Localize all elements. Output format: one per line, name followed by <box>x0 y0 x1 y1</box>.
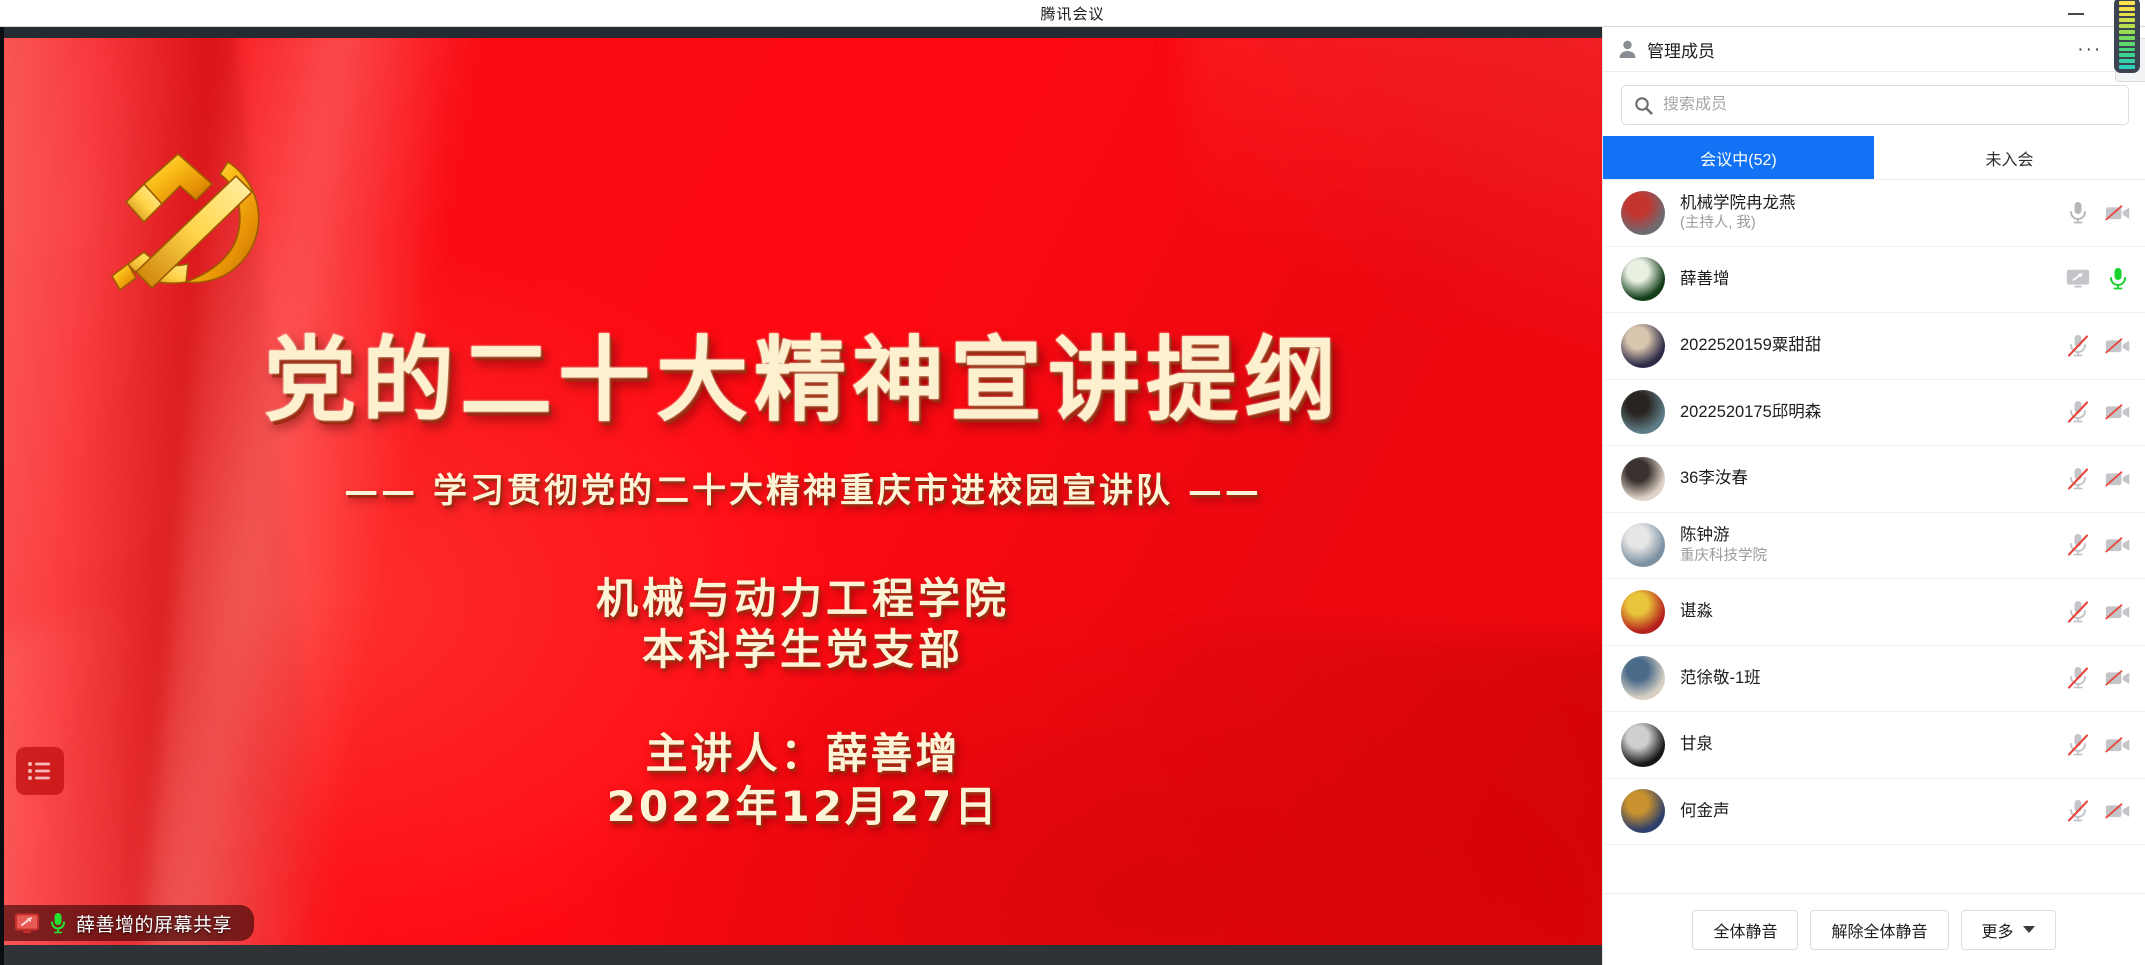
avatar <box>1621 789 1665 833</box>
participant-name: 范徐敬-1班 <box>1680 668 2065 689</box>
cpc-emblem-icon <box>92 138 292 308</box>
avatar <box>1621 723 1665 767</box>
slide-date: 2022年12月27日 <box>4 781 1602 834</box>
participant-status-icons <box>2065 200 2131 226</box>
participant-name: 谌淼 <box>1680 601 2065 622</box>
search-box[interactable] <box>1621 85 2129 125</box>
slide-org-line1: 机械与动力工程学院 <box>4 573 1602 624</box>
participant-status-icons <box>2065 399 2131 425</box>
slide-subtitle: —— 学习贯彻党的二十大精神重庆市进校园宣讲队 —— <box>4 463 1602 512</box>
participant-info: 36李汝春 <box>1680 468 2065 489</box>
audio-level-bar <box>2119 18 2135 22</box>
slide-title: 党的二十大精神宣讲提纲 <box>4 306 1602 439</box>
camera-status-button[interactable] <box>2105 466 2131 492</box>
screen-share-icon <box>14 912 40 934</box>
avatar <box>1621 390 1665 434</box>
participant-row[interactable]: 范徐敬-1班 <box>1603 646 2145 713</box>
avatar <box>1621 191 1665 235</box>
participant-info: 机械学院冉龙燕(主持人, 我) <box>1680 193 2065 233</box>
mute-all-button[interactable]: 全体静音 <box>1692 910 1798 950</box>
minimize-icon <box>2068 13 2084 15</box>
mic-off-icon <box>2066 532 2090 558</box>
mic-off-icon <box>2066 399 2090 425</box>
tab-not-joined[interactable]: 未入会 <box>1874 136 2145 179</box>
audio-level-bar <box>2119 42 2135 46</box>
stage-left-border <box>0 27 4 965</box>
participant-info: 2022520159粟甜甜 <box>1680 335 2065 356</box>
window-title: 腾讯会议 <box>1040 3 1104 24</box>
avatar <box>1621 257 1665 301</box>
participant-status-icons <box>2065 665 2131 691</box>
camera-off-icon <box>2105 800 2131 822</box>
camera-off-icon <box>2105 202 2131 224</box>
panel-title: 管理成员 <box>1647 37 2077 62</box>
participant-row[interactable]: 甘泉 <box>1603 712 2145 779</box>
silk-fold <box>4 456 826 945</box>
participant-info: 2022520175邱明森 <box>1680 402 2065 423</box>
audio-level-bar <box>2119 30 2135 34</box>
mic-off-icon <box>2066 665 2090 691</box>
slide-org-line2: 本科学生党支部 <box>4 624 1602 675</box>
mic-status-button[interactable] <box>2065 532 2091 558</box>
avatar <box>1621 457 1665 501</box>
participant-row[interactable]: 何金声 <box>1603 779 2145 846</box>
participant-name: 机械学院冉龙燕 <box>1680 193 2065 214</box>
participant-row[interactable]: 36李汝春 <box>1603 446 2145 513</box>
participant-row[interactable]: 陈钟游重庆科技学院 <box>1603 513 2145 580</box>
mic-off-icon <box>2066 798 2090 824</box>
participant-info: 范徐敬-1班 <box>1680 668 2065 689</box>
unmute-all-label: 解除全体静音 <box>1831 918 1927 942</box>
participant-info: 何金声 <box>1680 801 2065 822</box>
camera-off-icon <box>2105 534 2131 556</box>
audio-level-meter <box>2114 0 2140 73</box>
more-label: 更多 <box>1982 918 2014 942</box>
participant-subtitle: 重庆科技学院 <box>1680 547 2065 566</box>
avatar <box>1621 656 1665 700</box>
mic-status-button[interactable] <box>2065 665 2091 691</box>
participant-row[interactable]: 薛善增 <box>1603 247 2145 314</box>
participant-name: 陈钟游 <box>1680 525 2065 546</box>
presentation-slide: 党的二十大精神宣讲提纲 —— 学习贯彻党的二十大精神重庆市进校园宣讲队 —— 机… <box>4 38 1602 945</box>
mic-off-icon <box>2066 599 2090 625</box>
audio-level-bar <box>2119 65 2135 69</box>
mic-status-button[interactable] <box>2065 200 2091 226</box>
camera-status-button[interactable] <box>2105 532 2131 558</box>
participant-name: 何金声 <box>1680 801 2065 822</box>
participants-panel: 管理成员 ··· ✕ 会议中(52) 未入会 机械学院冉龙燕(主持人, 我) 薛… <box>1602 27 2145 965</box>
participant-info: 甘泉 <box>1680 734 2065 755</box>
participant-subtitle: (主持人, 我) <box>1680 214 2065 233</box>
person-icon <box>1617 39 1638 60</box>
audio-level-bar <box>2119 36 2135 40</box>
stage-bottom-border <box>0 945 1602 965</box>
camera-status-button[interactable] <box>2105 399 2131 425</box>
mute-all-label: 全体静音 <box>1713 918 1777 942</box>
camera-off-icon <box>2105 401 2131 423</box>
participant-row[interactable]: 机械学院冉龙燕(主持人, 我) <box>1603 180 2145 247</box>
audio-level-bar <box>2119 48 2135 52</box>
camera-status-button[interactable] <box>2105 665 2131 691</box>
more-options-icon[interactable]: ··· <box>2077 40 2102 59</box>
participant-status-icons <box>2065 333 2131 359</box>
screen-share-banner: 薛善增的屏幕共享 <box>4 905 254 941</box>
list-icon <box>27 760 53 782</box>
slide-organization: 机械与动力工程学院 本科学生党支部 <box>4 573 1602 675</box>
participant-name: 甘泉 <box>1680 734 2065 755</box>
panel-search-wrapper <box>1603 72 2145 136</box>
mic-status-button[interactable] <box>2065 599 2091 625</box>
mic-status-button[interactable] <box>2065 732 2091 758</box>
panel-footer: 全体静音 解除全体静音 更多 <box>1603 893 2145 965</box>
participant-name: 薛善增 <box>1680 269 2065 290</box>
shared-screen-stage: 党的二十大精神宣讲提纲 —— 学习贯彻党的二十大精神重庆市进校园宣讲队 —— 机… <box>0 27 1602 965</box>
audio-level-bar <box>2119 7 2135 11</box>
avatar <box>1621 324 1665 368</box>
audio-level-bar <box>2119 1 2135 5</box>
participant-status-icons <box>2065 732 2131 758</box>
minimize-button[interactable] <box>2053 0 2099 27</box>
participant-info: 薛善增 <box>1680 269 2065 290</box>
window-titlebar: 腾讯会议 <box>0 0 2145 27</box>
avatar <box>1621 523 1665 567</box>
camera-status-button[interactable] <box>2105 333 2131 359</box>
participant-status-icons <box>2065 599 2131 625</box>
search-input[interactable] <box>1663 96 2116 114</box>
search-icon <box>1634 96 1653 115</box>
participant-info: 陈钟游重庆科技学院 <box>1680 525 2065 565</box>
mic-status-button[interactable] <box>2065 333 2091 359</box>
participant-row[interactable]: 2022520159粟甜甜 <box>1603 313 2145 380</box>
unmute-all-button[interactable]: 解除全体静音 <box>1810 910 1948 950</box>
camera-off-icon <box>2105 734 2131 756</box>
mic-status-button[interactable] <box>2065 399 2091 425</box>
mic-off-icon <box>2066 466 2090 492</box>
mic-on-icon <box>2066 200 2090 226</box>
participant-name: 36李汝春 <box>1680 468 2065 489</box>
participant-status-icons <box>2065 266 2131 292</box>
audio-level-bar <box>2119 59 2135 63</box>
audio-level-bar <box>2119 24 2135 28</box>
screen-share-banner-text: 薛善增的屏幕共享 <box>76 910 232 937</box>
slide-speaker-block: 主讲人：薛善增 2022年12月27日 <box>4 728 1602 833</box>
meeting-window: 腾讯会议 <box>0 0 2145 965</box>
mic-status-button[interactable] <box>2065 798 2091 824</box>
microphone-icon <box>49 911 67 935</box>
camera-status-button[interactable] <box>2105 732 2131 758</box>
mic-status-button[interactable] <box>2065 466 2091 492</box>
participant-row[interactable]: 2022520175邱明森 <box>1603 380 2145 447</box>
audio-level-bar <box>2119 53 2135 57</box>
camera-status-button[interactable] <box>2105 200 2131 226</box>
camera-status-button[interactable] <box>2105 599 2131 625</box>
participant-name: 2022520175邱明森 <box>1680 402 2065 423</box>
participant-status-icons <box>2065 798 2131 824</box>
camera-status-button[interactable] <box>2105 798 2131 824</box>
panel-header: 管理成员 ··· ✕ <box>1603 27 2145 72</box>
camera-off-icon <box>2105 468 2131 490</box>
stage-top-border <box>0 27 1602 38</box>
mic-off-icon <box>2066 333 2090 359</box>
participant-info: 谌淼 <box>1680 601 2065 622</box>
panel-tabs: 会议中(52) 未入会 <box>1603 136 2145 180</box>
stage-list-toggle-button[interactable] <box>16 747 64 795</box>
participant-status-icons <box>2065 466 2131 492</box>
tab-in-meeting[interactable]: 会议中(52) <box>1603 136 1874 179</box>
mic-active-icon <box>2106 266 2130 292</box>
screen-share-icon <box>2065 267 2091 291</box>
chevron-down-icon <box>2023 926 2035 933</box>
screen-share-status-button[interactable] <box>2065 266 2091 292</box>
camera-off-icon <box>2105 601 2131 623</box>
camera-off-icon <box>2105 667 2131 689</box>
avatar <box>1621 590 1665 634</box>
camera-off-icon <box>2105 335 2131 357</box>
participant-row[interactable]: 谌淼 <box>1603 579 2145 646</box>
participants-list[interactable]: 机械学院冉龙燕(主持人, 我) 薛善增 2022520159粟甜甜 202252… <box>1603 180 2145 893</box>
silk-fold <box>1184 38 1602 518</box>
mic-off-icon <box>2066 732 2090 758</box>
participant-status-icons <box>2065 532 2131 558</box>
audio-level-bar <box>2119 13 2135 17</box>
slide-speaker: 主讲人：薛善增 <box>4 728 1602 781</box>
more-button[interactable]: 更多 <box>1961 910 2056 950</box>
participant-name: 2022520159粟甜甜 <box>1680 335 2065 356</box>
mic-status-button[interactable] <box>2105 266 2131 292</box>
